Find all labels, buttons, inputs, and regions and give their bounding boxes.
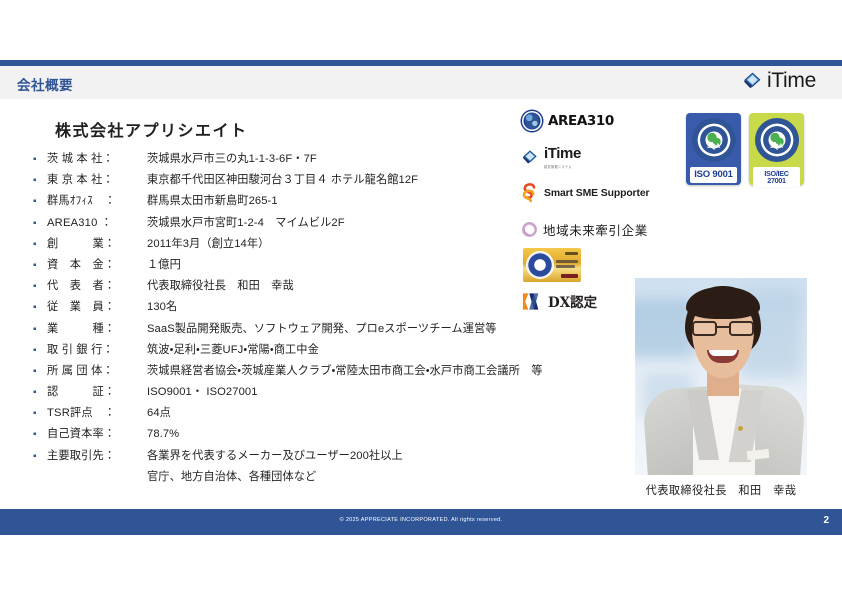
bullet-icon: ▪: [30, 367, 47, 377]
area310-globe-icon: [522, 111, 542, 131]
cert-sublabel: 勤怠管理システム: [544, 164, 581, 169]
cert-label-block: iTime 勤怠管理システム: [544, 145, 581, 169]
iso-badge-9001: ISO 9001: [686, 113, 741, 185]
info-label: 従 業 員：: [47, 298, 139, 314]
info-value: 東京都千代田区神田駿河台３丁目４ ホテル龍名館12F: [139, 171, 418, 187]
cert-label: iTime: [544, 145, 581, 162]
info-value: 茨城県水戸市三の丸1-1-3-6F・7F: [139, 150, 317, 166]
info-value: 64点: [139, 404, 171, 420]
info-value: 代表取締役社長 和田 幸哉: [139, 277, 294, 293]
info-value: 各業界を代表するメーカー及びユーザー200社以上: [139, 447, 403, 463]
cert-item-award-badge: [522, 254, 672, 276]
footer-copyright: © 2025 APPRECIATE INCORPORATED. All righ…: [0, 517, 842, 523]
bullet-icon: ▪: [30, 346, 47, 356]
info-row-continuation: ▪ 官庁、地方自治体、各種団体など: [30, 468, 630, 489]
info-row: ▪ 取 引 銀 行： 筑波・足利・三菱UFJ・常陽・商工中金: [30, 341, 630, 362]
smart-sme-supporter-s-icon: [522, 183, 538, 203]
brand-name: iTime: [767, 70, 816, 91]
slide: 会社概要 iTime 株式会社アプリシエイト ▪ 茨 城 本 社： 茨城県水戸市…: [0, 60, 842, 535]
info-label: 代 表 者：: [47, 277, 139, 293]
info-row: ▪ 認 証： ISO9001・ ISO27001: [30, 383, 630, 404]
info-value: 78.7%: [139, 428, 179, 440]
info-value: 2011年3月（創立14年）: [139, 235, 269, 251]
bullet-icon: ▪: [30, 176, 47, 186]
info-row: ▪ 所 属 団 体： 茨城県経営者協会・茨城産業人クラブ・常陸太田市商工会・水戸…: [30, 362, 630, 383]
info-value: 130名: [139, 298, 177, 314]
info-value: 茨城県経営者協会・茨城産業人クラブ・常陸太田市商工会・水戸市商工会議所 等: [139, 362, 543, 378]
info-label: AREA310 ：: [47, 214, 139, 230]
bullet-icon: ▪: [30, 240, 47, 250]
cert-item-smart-sme-supporter: Smart SME Supporter: [522, 182, 672, 204]
chiiki-mirai-ring-icon: [522, 222, 537, 237]
bullet-icon: ▪: [30, 282, 47, 292]
info-label: 業 種：: [47, 320, 139, 336]
dx-certification-icon: [522, 291, 542, 312]
cert-item-area310: AREA310: [522, 110, 672, 132]
info-label: 群馬ｵﾌｨｽ ：: [47, 192, 139, 208]
bullet-icon: ▪: [30, 155, 47, 165]
info-label: 取 引 銀 行：: [47, 341, 139, 357]
cert-item-itime: iTime 勤怠管理システム: [522, 146, 672, 168]
header-band: [0, 66, 842, 99]
bullet-icon: ▪: [30, 409, 47, 419]
bullet-icon: ▪: [30, 303, 47, 313]
iso-badge-group: ISO 9001 ISO/IEC 27001: [686, 113, 804, 185]
info-label: 主要取引先：: [47, 447, 139, 463]
bullet-icon: ▪: [30, 430, 47, 440]
cert-label: Smart SME Supporter: [544, 188, 650, 199]
info-label: 創 業：: [47, 235, 139, 251]
info-value: 茨城県水戸市宮町1-2-4 マイムビル2F: [139, 214, 345, 230]
info-label: 自己資本率：: [47, 425, 139, 441]
iso-badge-27001: ISO/IEC 27001: [749, 113, 804, 185]
page-title: 会社概要: [17, 74, 73, 94]
info-row: ▪ 自己資本率： 78.7%: [30, 425, 630, 446]
itime-diamond-icon: [522, 149, 538, 165]
info-value: 筑波・足利・三菱UFJ・常陽・商工中金: [139, 341, 319, 357]
info-row: ▪ 主要取引先： 各業界を代表するメーカー及びユーザー200社以上: [30, 447, 630, 468]
company-name: 株式会社アプリシエイト: [55, 117, 248, 141]
info-value: SaaS製品開発販売、ソフトウェア開発、プロeスポーツチーム運営等: [139, 320, 497, 336]
cert-label: DX認定: [548, 291, 597, 311]
brand-logo: iTime: [743, 70, 816, 91]
cert-label: AREA310: [548, 113, 614, 129]
info-label: 認 証：: [47, 383, 139, 399]
portrait-caption: 代表取締役社長 和田 幸哉: [608, 482, 834, 498]
jqa-seal-icon: [692, 118, 736, 162]
iso-badge-label: ISO 9001: [690, 167, 737, 183]
cert-label: 地域未来牽引企業: [543, 220, 648, 239]
bullet-icon: ▪: [30, 325, 47, 335]
info-label: 茨 城 本 社：: [47, 150, 139, 166]
info-value: ISO9001・ ISO27001: [139, 383, 258, 399]
info-value: 群馬県太田市新島町265-1: [139, 192, 278, 208]
bullet-icon: ▪: [30, 219, 47, 229]
jqa-seal-icon: [755, 118, 799, 162]
bullet-icon: ▪: [30, 452, 47, 462]
info-label: TSR評点 ：: [47, 404, 139, 420]
info-value: １億円: [139, 256, 181, 272]
info-label: 東 京 本 社：: [47, 171, 139, 187]
info-label: 資 本 金：: [47, 256, 139, 272]
info-value: 官庁、地方自治体、各種団体など: [139, 468, 316, 484]
bullet-icon: ▪: [30, 388, 47, 398]
gold-award-badge-icon: [523, 248, 581, 282]
page-number: 2: [823, 515, 829, 526]
info-row: ▪ TSR評点 ： 64点: [30, 404, 630, 425]
cert-item-chiiki-mirai: 地域未来牽引企業: [522, 218, 672, 240]
bullet-icon: ▪: [30, 261, 47, 271]
iso-badge-label: ISO/IEC 27001: [753, 167, 800, 187]
info-label: 所 属 団 体：: [47, 362, 139, 378]
ceo-portrait-photo: [635, 278, 807, 475]
itime-diamond-icon: [743, 71, 762, 90]
bullet-icon: ▪: [30, 197, 47, 207]
